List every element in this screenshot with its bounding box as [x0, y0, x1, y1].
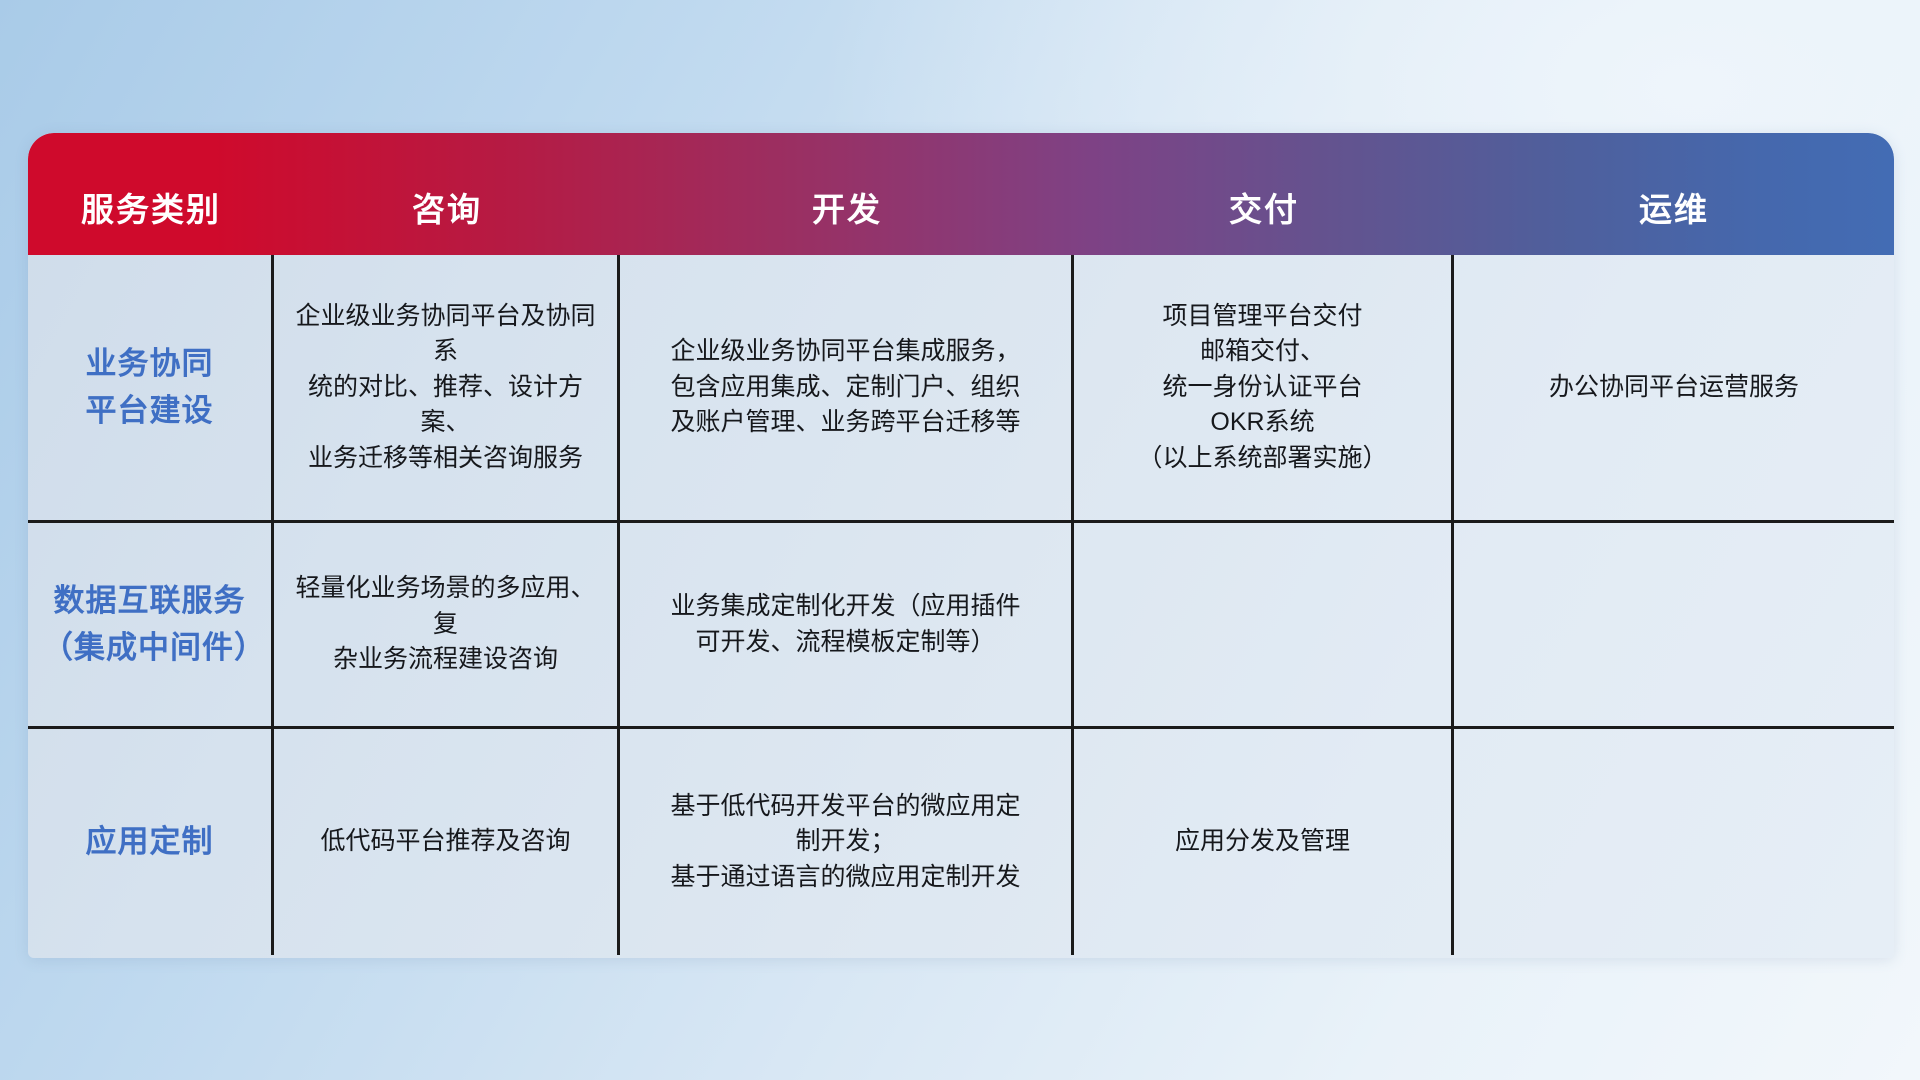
table-body: 业务协同 平台建设 企业级业务协同平台及协同系 统的对比、推荐、设计方案、 业务… — [28, 255, 1894, 958]
cell-delivery: 项目管理平台交付 邮箱交付、 统一身份认证平台 OKR系统 （以上系统部署实施） — [1074, 255, 1454, 520]
row-category-label: 业务协同 平台建设 — [28, 255, 274, 520]
cell-consulting: 低代码平台推荐及咨询 — [274, 729, 620, 955]
cell-consulting: 轻量化业务场景的多应用、复 杂业务流程建设咨询 — [274, 523, 620, 726]
column-header-operations: 运维 — [1454, 133, 1894, 255]
cell-development: 企业级业务协同平台集成服务， 包含应用集成、定制门户、组织 及账户管理、业务跨平… — [620, 255, 1074, 520]
service-matrix-table: 服务类别 咨询 开发 交付 运维 业务协同 平台建设 企业级业务协同平台及协同系… — [28, 133, 1894, 958]
slide-canvas: 服务类别 咨询 开发 交付 运维 业务协同 平台建设 企业级业务协同平台及协同系… — [0, 0, 1920, 1080]
cell-consulting: 企业级业务协同平台及协同系 统的对比、推荐、设计方案、 业务迁移等相关咨询服务 — [274, 255, 620, 520]
column-header-development: 开发 — [620, 133, 1074, 255]
cell-operations: 办公协同平台运营服务 — [1454, 255, 1894, 520]
table-row: 业务协同 平台建设 企业级业务协同平台及协同系 统的对比、推荐、设计方案、 业务… — [28, 255, 1894, 523]
cell-development: 业务集成定制化开发（应用插件 可开发、流程模板定制等） — [620, 523, 1074, 726]
row-category-label: 应用定制 — [28, 729, 274, 955]
cell-operations — [1454, 729, 1894, 955]
cell-operations — [1454, 523, 1894, 726]
row-category-label: 数据互联服务 （集成中间件） — [28, 523, 274, 726]
column-header-delivery: 交付 — [1074, 133, 1454, 255]
table-header-row: 服务类别 咨询 开发 交付 运维 — [28, 133, 1894, 255]
table-body-container: 服务类别 咨询 开发 交付 运维 业务协同 平台建设 企业级业务协同平台及协同系… — [28, 133, 1894, 958]
cell-development: 基于低代码开发平台的微应用定 制开发； 基于通过语言的微应用定制开发 — [620, 729, 1074, 955]
cell-delivery: 应用分发及管理 — [1074, 729, 1454, 955]
table-row: 应用定制 低代码平台推荐及咨询 基于低代码开发平台的微应用定 制开发； 基于通过… — [28, 729, 1894, 955]
column-header-consulting: 咨询 — [274, 133, 620, 255]
column-header-service-category: 服务类别 — [28, 133, 274, 255]
table-row: 数据互联服务 （集成中间件） 轻量化业务场景的多应用、复 杂业务流程建设咨询 业… — [28, 523, 1894, 729]
cell-delivery — [1074, 523, 1454, 726]
